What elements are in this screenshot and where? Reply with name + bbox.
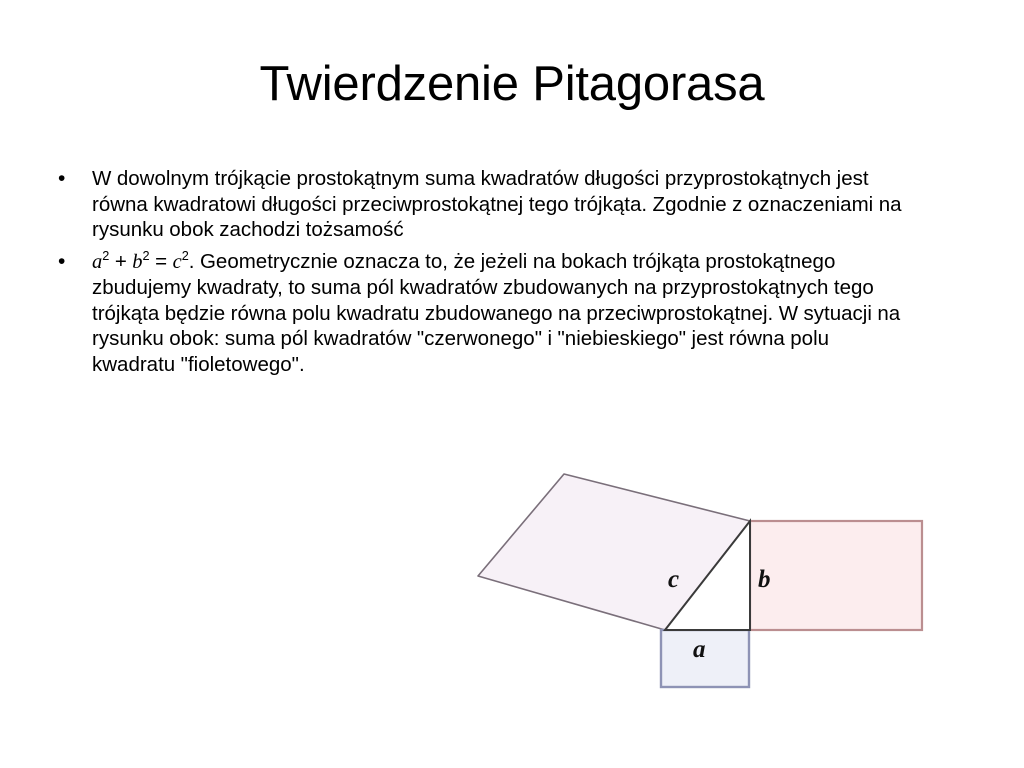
bullet-item-2: • a2 + b2 = c2. Geometrycznie oznacza to…: [52, 249, 904, 378]
formula-var-b: b: [132, 251, 142, 273]
label-b: b: [758, 566, 771, 593]
body-content: • W dowolnym trójkącie prostokątnym suma…: [52, 166, 904, 383]
bullet-text-1: W dowolnym trójkącie prostokątnym suma k…: [92, 166, 904, 243]
formula-equals: =: [150, 250, 173, 273]
pythagoras-figure: c b a: [460, 455, 940, 710]
formula-var-c: c: [173, 251, 182, 273]
page-title: Twierdzenie Pitagorasa: [0, 58, 1024, 112]
formula-exp-c: 2: [182, 248, 189, 263]
formula-plus: +: [109, 250, 132, 273]
formula-exp-b: 2: [143, 248, 150, 263]
red-square-shape: [750, 521, 922, 630]
bullet-marker: •: [52, 166, 92, 192]
bullet-marker: •: [52, 249, 92, 275]
label-a: a: [693, 636, 706, 663]
bullet-item-1: • W dowolnym trójkącie prostokątnym suma…: [52, 166, 904, 243]
label-c: c: [668, 566, 679, 593]
bullet-text-2: a2 + b2 = c2. Geometrycznie oznacza to, …: [92, 249, 904, 378]
bullet-text-2-rest: . Geometrycznie oznacza to, że jeżeli na…: [92, 250, 900, 376]
slide: Twierdzenie Pitagorasa • W dowolnym trój…: [0, 0, 1024, 768]
formula-var-a: a: [92, 251, 102, 273]
